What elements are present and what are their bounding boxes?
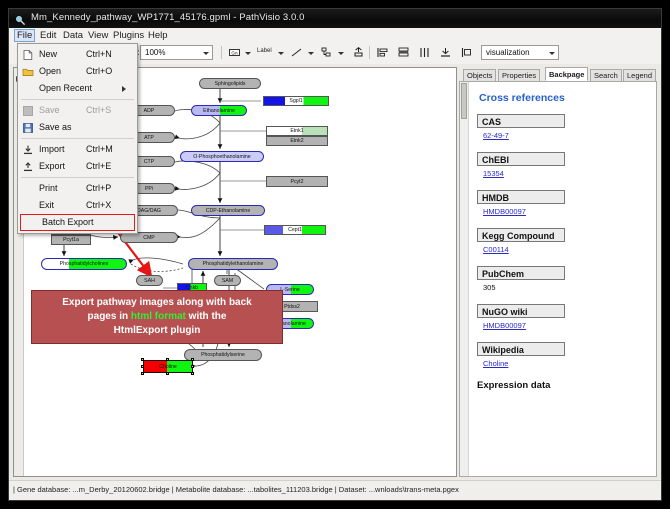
annotation-banner: Export pathway images along with back pa…	[31, 290, 283, 344]
menu-item-exit-label: Exit	[39, 200, 54, 210]
menu-item-open-recent-label: Open Recent	[39, 83, 92, 93]
tab-backpage[interactable]: Backpage	[545, 67, 588, 81]
menu-item-export[interactable]: Export Ctrl+E	[18, 158, 137, 175]
align-left-icon[interactable]	[375, 45, 390, 60]
banner-line2-b: with the	[186, 311, 227, 322]
title-bar: Mm_Kennedy_pathway_WP1771_45176.gpml - P…	[9, 9, 661, 29]
menu-item-save-label: Save	[39, 105, 60, 115]
zoom-combo[interactable]: 100%	[140, 45, 213, 60]
menu-item-new-label: New	[39, 49, 57, 59]
selection-handle-e[interactable]	[191, 365, 194, 368]
banner-line2-a: pages in	[88, 311, 131, 322]
export-icon	[22, 160, 34, 172]
selection-handle-n[interactable]	[166, 358, 169, 361]
menu-view[interactable]: View	[85, 29, 111, 42]
selection-handle-s[interactable]	[166, 372, 169, 375]
pathvisio-window: Mm_Kennedy_pathway_WP1771_45176.gpml - P…	[8, 8, 662, 501]
selection-handle-sw[interactable]	[141, 372, 144, 375]
menu-item-print-label: Print	[39, 183, 58, 193]
xref-header-cas: CAS	[477, 114, 565, 128]
node-sah[interactable]: SAH	[136, 275, 163, 286]
menu-item-export-label: Export	[39, 161, 65, 171]
tab-properties[interactable]: Properties	[498, 69, 540, 81]
menu-item-open-accel: Ctrl+O	[86, 66, 112, 76]
save-as-icon	[22, 121, 34, 133]
toolbar-separator-2	[369, 46, 370, 59]
xref-value-chebi[interactable]: 15354	[483, 169, 648, 178]
interaction-dropdown-arrow-icon[interactable]	[338, 52, 344, 55]
cross-references-title: Cross references	[479, 92, 648, 104]
stack-center-icon[interactable]	[396, 45, 411, 60]
distribute-icon[interactable]	[417, 45, 432, 60]
node-cdp-ethanolamine[interactable]: CDP-Ethanolamine	[191, 205, 265, 216]
menu-plugins[interactable]: Plugins	[110, 29, 147, 42]
xref-header-wikipedia: Wikipedia	[477, 342, 565, 356]
menu-item-save: Save Ctrl+S	[18, 102, 137, 119]
node-sam[interactable]: SAM	[214, 275, 241, 286]
menu-item-open-label: Open	[39, 66, 61, 76]
menu-data[interactable]: Data	[60, 29, 86, 42]
tab-legend[interactable]: Legend	[623, 69, 656, 81]
visualization-combo[interactable]: visualization	[481, 45, 559, 60]
menu-item-batch-export[interactable]: Batch Export	[20, 214, 135, 231]
node-cept1[interactable]: Cept1	[264, 225, 326, 235]
menu-separator-2	[21, 138, 134, 139]
menu-item-import-label: Import	[39, 144, 65, 154]
menu-item-print[interactable]: Print Ctrl+P	[18, 180, 137, 197]
label-tool-label[interactable]: Label	[257, 48, 272, 54]
node-ethanolamine[interactable]: Ethanolamine	[191, 105, 247, 116]
svg-text:Gn: Gn	[231, 50, 238, 55]
status-bar: | Gene database: ...m_Derby_20120602.bri…	[9, 480, 661, 500]
selection-handle-ne[interactable]	[191, 358, 194, 361]
submenu-arrow-icon	[122, 86, 126, 92]
common-height-icon[interactable]	[459, 45, 474, 60]
menu-item-exit[interactable]: Exit Ctrl+X	[18, 197, 137, 214]
line-icon[interactable]	[289, 45, 304, 60]
open-folder-icon	[22, 65, 34, 77]
interaction-icon[interactable]	[319, 45, 334, 60]
xref-header-pubchem: PubChem	[477, 266, 565, 280]
node-etnk2[interactable]: Etnk2	[266, 136, 328, 146]
chevron-down-icon-2	[549, 52, 555, 55]
menu-bar[interactable]: File Edit Data View Plugins Help	[9, 28, 661, 44]
selection-handle-w[interactable]	[141, 365, 144, 368]
node-etnk1[interactable]: Etnk1	[266, 126, 328, 136]
xref-value-kegg[interactable]: C00114	[483, 245, 648, 254]
status-text: | Gene database: ...m_Derby_20120602.bri…	[13, 485, 459, 494]
line-dropdown-arrow-icon[interactable]	[308, 52, 314, 55]
selection-handle-se[interactable]	[191, 372, 194, 375]
node-pcyt1a[interactable]: Pcyt1a	[51, 235, 91, 245]
menu-item-import[interactable]: Import Ctrl+M	[18, 141, 137, 158]
gene-product-icon[interactable]: Gn	[227, 45, 242, 60]
selection-handle-nw[interactable]	[141, 358, 144, 361]
gene-dropdown-arrow-icon[interactable]	[245, 52, 251, 55]
node-sgpl1[interactable]: Sgpl1	[263, 96, 329, 106]
node-sphingolipids[interactable]: Sphingolipids	[199, 78, 261, 89]
new-file-icon	[22, 48, 34, 60]
xref-value-wikipedia[interactable]: Choline	[483, 359, 648, 368]
xref-value-hmdb[interactable]: HMDB00097	[483, 207, 648, 216]
scrollbar-thumb[interactable]	[461, 83, 467, 119]
menu-item-new-accel: Ctrl+N	[86, 49, 112, 59]
banner-line2-green: html format	[131, 311, 186, 322]
backpage-scrollbar[interactable]	[460, 82, 469, 476]
xref-header-kegg: Kegg Compound	[477, 228, 565, 242]
node-phosphatidylethanolamine[interactable]: Phosphatidylethanolamine	[188, 258, 278, 270]
node-phosphatidylserine[interactable]: Phosphatidylserine	[184, 349, 262, 361]
banner-line1: Export pathway images along with back	[62, 297, 252, 308]
screenshot-root: Mm_Kennedy_pathway_WP1771_45176.gpml - P…	[0, 0, 670, 509]
expression-data-label: Expression data	[477, 380, 648, 391]
menu-item-save-as-label: Save as	[39, 122, 72, 132]
banner-line3: HtmlExport plugin	[114, 325, 201, 336]
backpage-content: Cross references CAS 62-49-7 ChEBI 15354…	[469, 82, 656, 476]
menu-item-open-recent[interactable]: Open Recent	[18, 80, 137, 97]
node-pcyt2[interactable]: Pcyt2	[266, 176, 328, 187]
common-width-icon[interactable]	[438, 45, 453, 60]
toolbar-separator	[221, 46, 222, 59]
right-panel: Objects Properties Backpage Search Legen…	[459, 67, 657, 477]
menu-item-import-accel: Ctrl+M	[86, 144, 113, 154]
file-menu-popup[interactable]: New Ctrl+N Open Ctrl+O Open Recent	[17, 43, 138, 234]
xref-value-pubchem: 305	[483, 283, 648, 292]
menu-separator-3	[21, 177, 134, 178]
xref-value-cas[interactable]: 62-49-7	[483, 131, 648, 140]
visualization-value: visualization	[486, 48, 530, 57]
tab-objects[interactable]: Objects	[463, 69, 496, 81]
menu-edit[interactable]: Edit	[37, 29, 59, 42]
menu-separator-1	[21, 99, 134, 100]
xref-header-nugo: NuGO wiki	[477, 304, 565, 318]
menu-item-exit-accel: Ctrl+X	[86, 200, 111, 210]
pathvisio-icon	[15, 13, 26, 24]
menu-item-open[interactable]: Open Ctrl+O	[18, 63, 137, 80]
chevron-down-icon	[203, 52, 209, 55]
right-panel-tabs[interactable]: Objects Properties Backpage Search Legen…	[459, 67, 657, 81]
xref-value-nugo[interactable]: HMDB00097	[483, 321, 648, 330]
window-title: Mm_Kennedy_pathway_WP1771_45176.gpml - P…	[31, 12, 305, 23]
xref-header-chebi: ChEBI	[477, 152, 565, 166]
menu-item-save-as[interactable]: Save as	[18, 119, 137, 136]
menu-item-new[interactable]: New Ctrl+N	[18, 46, 137, 63]
zoom-value: 100%	[145, 48, 165, 57]
menu-item-batch-export-label: Batch Export	[42, 217, 94, 227]
node-phosphatidylcholines[interactable]: Phosphatidylcholines	[41, 258, 127, 270]
import-icon	[22, 143, 34, 155]
menu-item-save-accel: Ctrl+S	[86, 105, 111, 115]
menu-item-print-accel: Ctrl+P	[86, 183, 111, 193]
menu-help[interactable]: Help	[145, 29, 171, 42]
tab-search[interactable]: Search	[590, 69, 622, 81]
label-dropdown-arrow-icon[interactable]	[278, 52, 284, 55]
backpage-panel: Cross references CAS 62-49-7 ChEBI 15354…	[459, 81, 657, 477]
node-o-phosphoethanolamine[interactable]: O-Phosphoethanolamine	[180, 151, 264, 162]
menu-item-export-accel: Ctrl+E	[86, 161, 111, 171]
align-top-icon[interactable]	[351, 45, 366, 60]
xref-header-hmdb: HMDB	[477, 190, 565, 204]
save-icon	[22, 104, 34, 116]
menu-file[interactable]: File	[14, 29, 35, 42]
